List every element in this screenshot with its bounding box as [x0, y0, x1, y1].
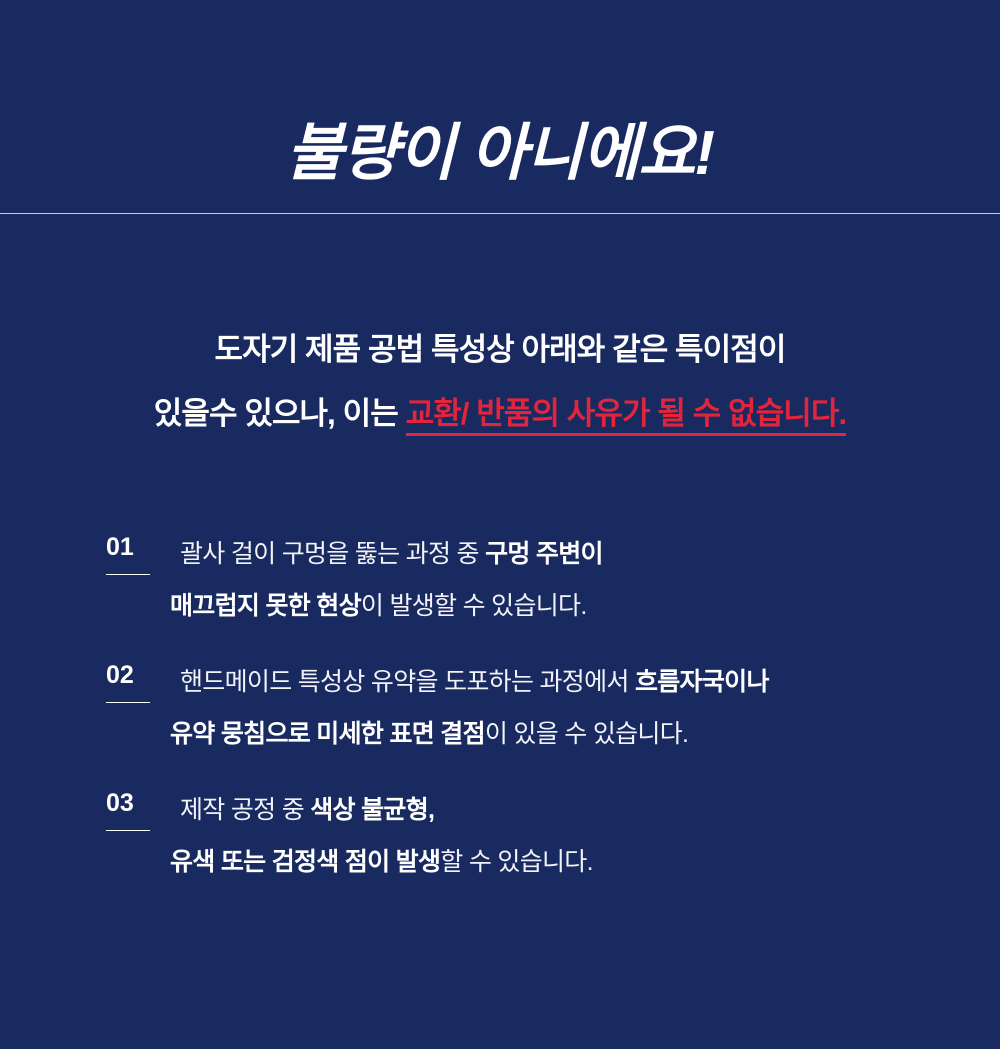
notice-index-number: 02 — [106, 660, 134, 690]
notice-text-strong: 흐름자국이나 — [635, 668, 769, 696]
notice-index-underline — [106, 702, 150, 703]
notice-index-number: 01 — [106, 532, 134, 562]
notice-row: 유색 또는 검정색 점이 발생할 수 있습니다. — [170, 836, 1000, 888]
notice-row: 매끄럽지 못한 현상이 발생할 수 있습니다. — [170, 580, 1000, 632]
notice-body-03: 제작 공정 중 색상 불균형, 유색 또는 검정색 점이 발생할 수 있습니다. — [180, 784, 1000, 888]
notice-text-normal: 할 수 있습니다. — [440, 848, 593, 876]
notice-text-strong: 매끄럽지 못한 현상 — [170, 592, 361, 620]
notice-list: 01 괄사 걸이 구멍을 뚫는 과정 중 구멍 주변이 매끄럽지 못한 현상이 … — [0, 528, 1000, 912]
notice-text-strong: 유약 뭉침으로 미세한 표면 결점 — [170, 720, 485, 748]
notice-row: 핸드메이드 특성상 유약을 도포하는 과정에서 흐름자국이나 — [180, 656, 1000, 708]
notice-index-02: 02 — [106, 656, 152, 703]
notice-body-02: 핸드메이드 특성상 유약을 도포하는 과정에서 흐름자국이나 유약 뭉침으로 미… — [180, 656, 1000, 760]
notice-row: 제작 공정 중 색상 불균형, — [180, 784, 1000, 836]
notice-row: 유약 뭉침으로 미세한 표면 결점이 있을 수 있습니다. — [170, 708, 1000, 760]
list-item: 02 핸드메이드 특성상 유약을 도포하는 과정에서 흐름자국이나 유약 뭉침으… — [0, 656, 1000, 760]
notice-text-normal: 제작 공정 중 — [180, 796, 310, 824]
notice-row: 괄사 걸이 구멍을 뚫는 과정 중 구멍 주변이 — [180, 528, 1000, 580]
notice-index-01: 01 — [106, 528, 152, 575]
lead-line-2-plain-text: 있을수 있으나, 이는 — [154, 396, 406, 431]
lead-line-1-text: 도자기 제품 공법 특성상 아래와 같은 특이점이 — [214, 332, 785, 367]
page-title: 불량이 아니에요! — [0, 118, 1000, 190]
lead-paragraph: 도자기 제품 공법 특성상 아래와 같은 특이점이 있을수 있으나, 이는 교환… — [0, 318, 1000, 446]
notice-text-strong: 유색 또는 검정색 점이 발생 — [170, 848, 440, 876]
notice-index-number: 03 — [106, 788, 134, 818]
notice-text-normal: 이 발생할 수 있습니다. — [361, 592, 587, 620]
notice-text-normal: 핸드메이드 특성상 유약을 도포하는 과정에서 — [180, 668, 635, 696]
lead-line-1: 도자기 제품 공법 특성상 아래와 같은 특이점이 — [0, 318, 1000, 382]
notice-body-01: 괄사 걸이 구멍을 뚫는 과정 중 구멍 주변이 매끄럽지 못한 현상이 발생할… — [180, 528, 1000, 632]
notice-index-underline — [106, 830, 150, 831]
list-item: 03 제작 공정 중 색상 불균형, 유색 또는 검정색 점이 발생할 수 있습… — [0, 784, 1000, 888]
notice-text-strong: 구멍 주변이 — [485, 540, 603, 568]
notice-text-normal: 이 있을 수 있습니다. — [485, 720, 688, 748]
lead-line-2-accent-text: 교환/ 반품의 사유가 될 수 없습니다. — [406, 396, 847, 436]
list-item: 01 괄사 걸이 구멍을 뚫는 과정 중 구멍 주변이 매끄럽지 못한 현상이 … — [0, 528, 1000, 632]
notice-page: { "colors": { "background": "#192a60", "… — [0, 0, 1000, 1049]
page-header: 불량이 아니에요! — [0, 0, 1000, 214]
notice-text-normal: 괄사 걸이 구멍을 뚫는 과정 중 — [180, 540, 485, 568]
header-divider — [0, 213, 1000, 214]
notice-index-underline — [106, 574, 150, 575]
notice-index-03: 03 — [106, 784, 152, 831]
notice-text-strong: 색상 불균형, — [310, 796, 434, 824]
lead-line-2: 있을수 있으나, 이는 교환/ 반품의 사유가 될 수 없습니다. — [0, 382, 1000, 446]
